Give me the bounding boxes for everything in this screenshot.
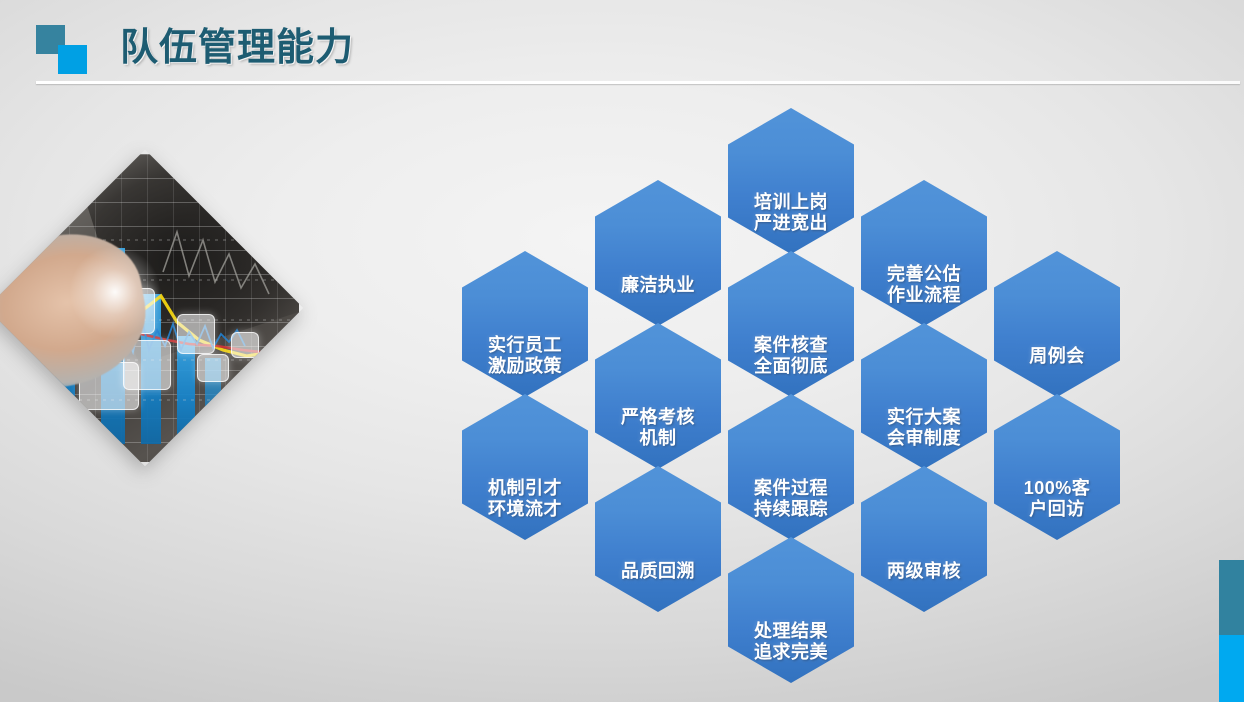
hexagon-tile[interactable]: 廉洁执业 [595,180,721,326]
hexagon-label: 100%客 户回访 [1018,478,1097,540]
slide-canvas: 队伍管理能力 [0,0,1244,702]
hexagon-label: 严格考核 机制 [615,407,701,469]
hexagon-label: 处理结果 追求完美 [748,621,834,683]
hexagon-label: 周例会 [1023,346,1091,397]
hexagon-tile[interactable]: 周例会 [994,251,1120,397]
hexagon-tile[interactable]: 两级审核 [861,466,987,612]
hexagon-label: 机制引才 环境流才 [482,478,568,540]
hexagon-tile[interactable]: 案件核查 全面彻底 [728,251,854,397]
hexagon-label: 实行员工 激励政策 [482,335,568,397]
hexagon-tile[interactable]: 案件过程 持续跟踪 [728,394,854,540]
hexagon-tile[interactable]: 完善公估 作业流程 [861,180,987,326]
hexagon-label: 完善公估 作业流程 [881,264,967,326]
hexagon-cluster: 实行员工 激励政策 机制引才 环境流才 廉洁执业 严格考核 机制 品质回溯 培训… [0,0,1244,702]
hexagon-label: 培训上岗 严进宽出 [748,192,834,254]
corner-teal-bar [1219,560,1244,635]
hexagon-tile[interactable]: 实行员工 激励政策 [462,251,588,397]
hexagon-tile[interactable]: 100%客 户回访 [994,394,1120,540]
hexagon-tile[interactable]: 培训上岗 严进宽出 [728,108,854,254]
hexagon-label: 两级审核 [881,561,967,612]
hexagon-tile[interactable]: 处理结果 追求完美 [728,537,854,683]
corner-blue-bar [1219,635,1244,702]
hexagon-label: 案件核查 全面彻底 [748,335,834,397]
hexagon-tile[interactable]: 严格考核 机制 [595,323,721,469]
hexagon-label: 品质回溯 [615,561,701,612]
hexagon-label: 廉洁执业 [615,275,701,326]
hexagon-tile[interactable]: 品质回溯 [595,466,721,612]
hexagon-tile[interactable]: 机制引才 环境流才 [462,394,588,540]
hexagon-tile[interactable]: 实行大案 会审制度 [861,323,987,469]
hexagon-label: 实行大案 会审制度 [881,407,967,469]
hexagon-label: 案件过程 持续跟踪 [748,478,834,540]
